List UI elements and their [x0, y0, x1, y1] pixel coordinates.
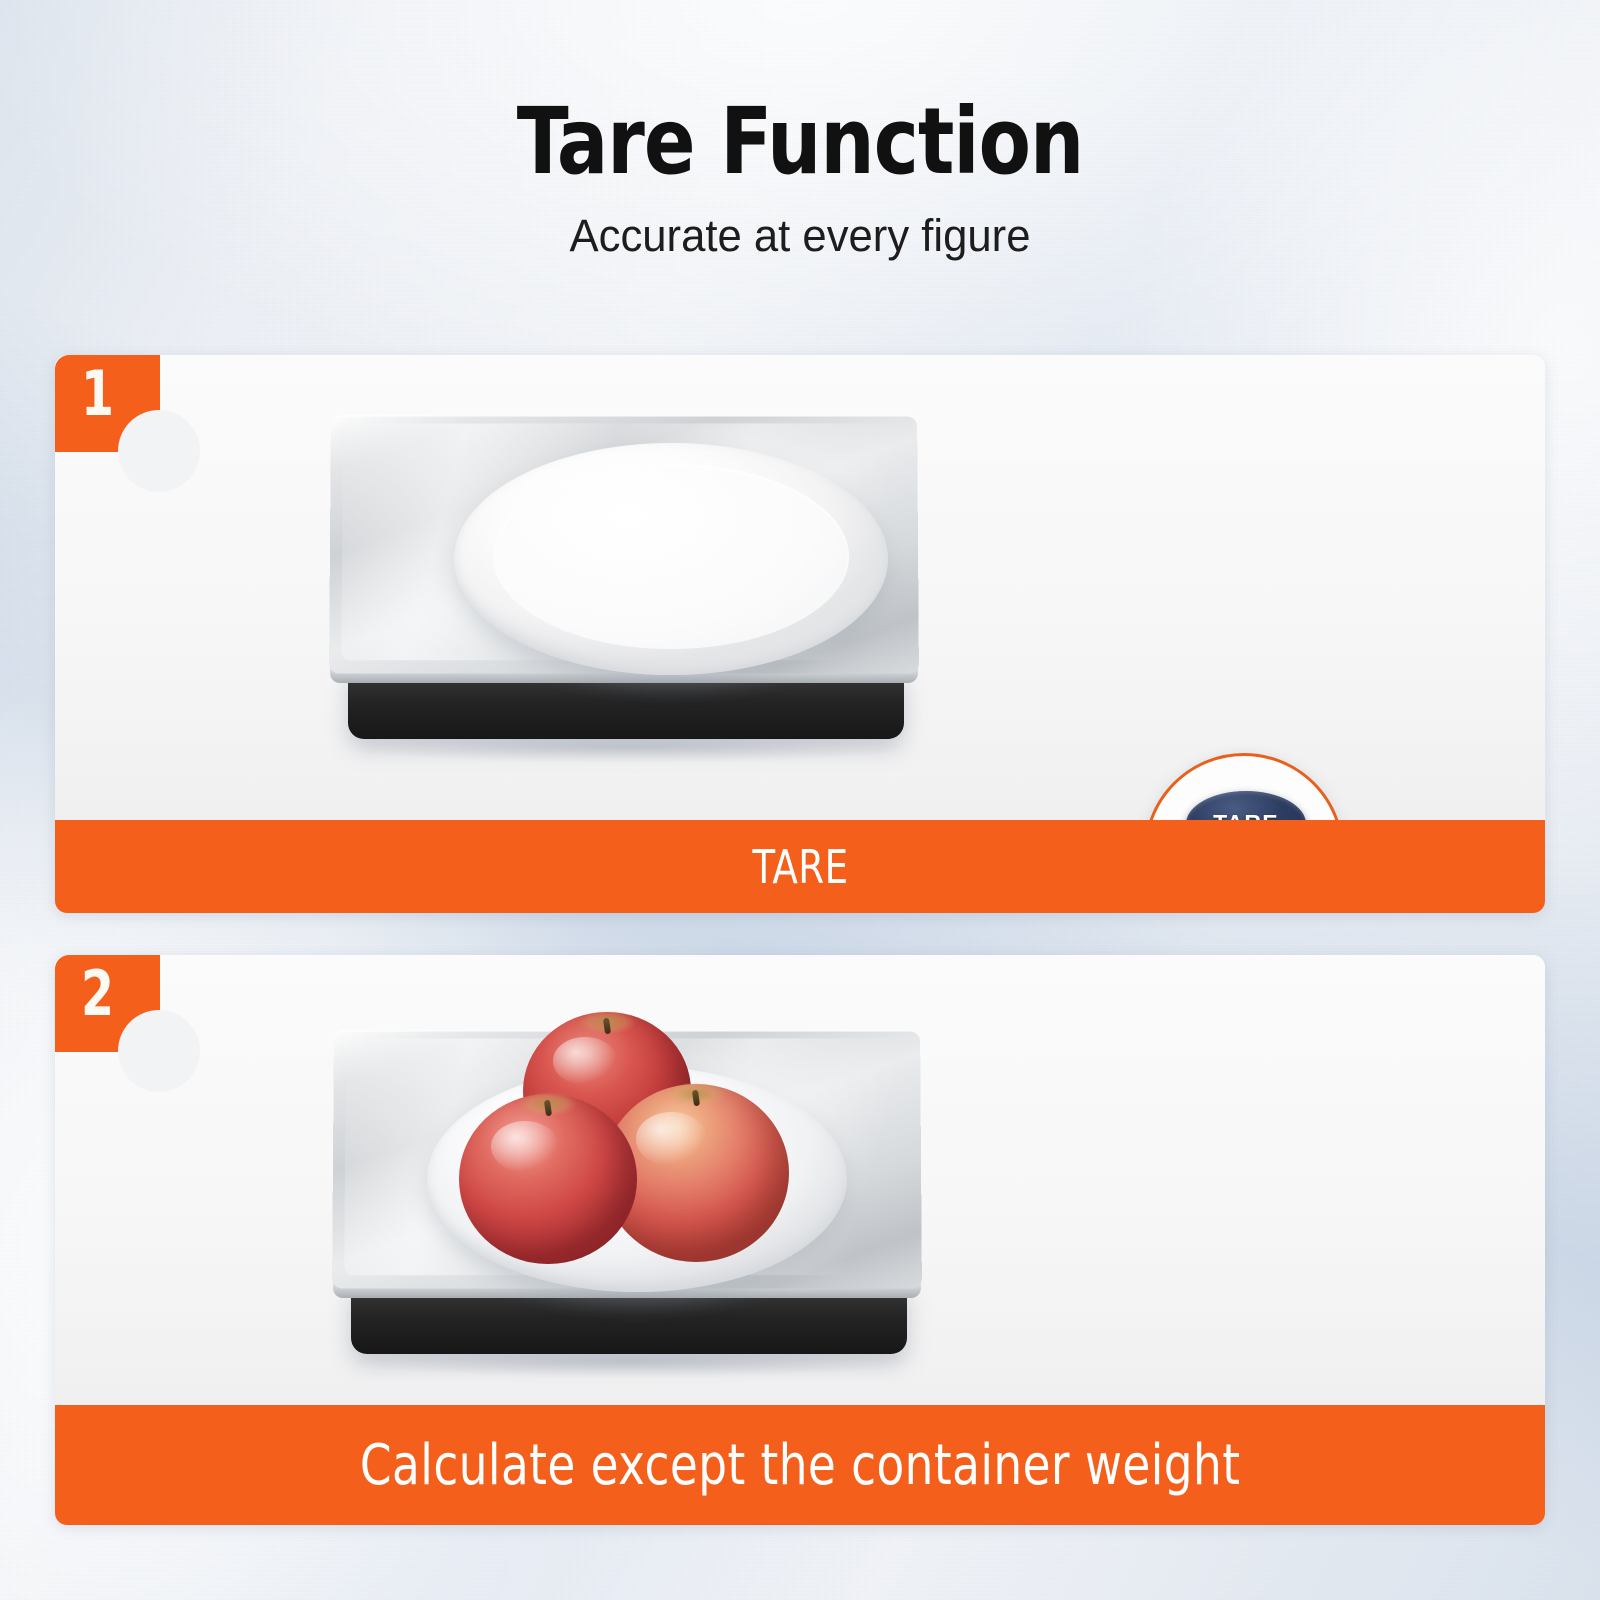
page-header: Tare Function Accurate at every figure: [0, 96, 1600, 262]
apple-highlight: [553, 1037, 617, 1084]
scale-platform-1: [302, 415, 942, 745]
step-badge-2: 2: [55, 955, 160, 1052]
apple-highlight: [491, 1121, 559, 1172]
page-subtitle: Accurate at every figure: [24, 210, 1576, 262]
white-plate-empty: [454, 443, 888, 675]
caption-text: TARE: [752, 840, 848, 894]
step-badge-1: 1: [55, 355, 160, 452]
scale-platform-2: [305, 1030, 945, 1370]
caption-text: Calculate except the container weight: [360, 1433, 1241, 1498]
panel-card-1: VEVOR ® TOUGH TOOLS, HALF PRICE 0 lb: [55, 355, 1545, 913]
coiled-cable-1: [923, 810, 1153, 820]
page-title: Tare Function: [64, 96, 1536, 188]
apple-highlight: [636, 1112, 707, 1165]
panel-2-photo: VEVOR ® TOUGH TOOLS, HALF PRICE 1 lb: [55, 955, 1545, 1405]
panel-1-caption-bar: TARE: [55, 820, 1545, 913]
panel-1-photo: VEVOR ® TOUGH TOOLS, HALF PRICE 0 lb: [55, 355, 1545, 820]
tare-oval-button[interactable]: TARE: [1186, 791, 1306, 820]
tare-callout-bubble: TARE: [1144, 753, 1344, 820]
panel-card-2: VEVOR ® TOUGH TOOLS, HALF PRICE 1 lb: [55, 955, 1545, 1525]
step-number: 1: [81, 363, 114, 425]
white-plate-with-apples: [427, 1066, 847, 1292]
tare-oval-label: TARE: [1213, 810, 1279, 820]
apple-left: [459, 1094, 637, 1264]
panel-2-caption-bar: Calculate except the container weight: [55, 1405, 1545, 1525]
callout-circle: TARE: [1144, 753, 1344, 820]
step-number: 2: [81, 963, 114, 1025]
